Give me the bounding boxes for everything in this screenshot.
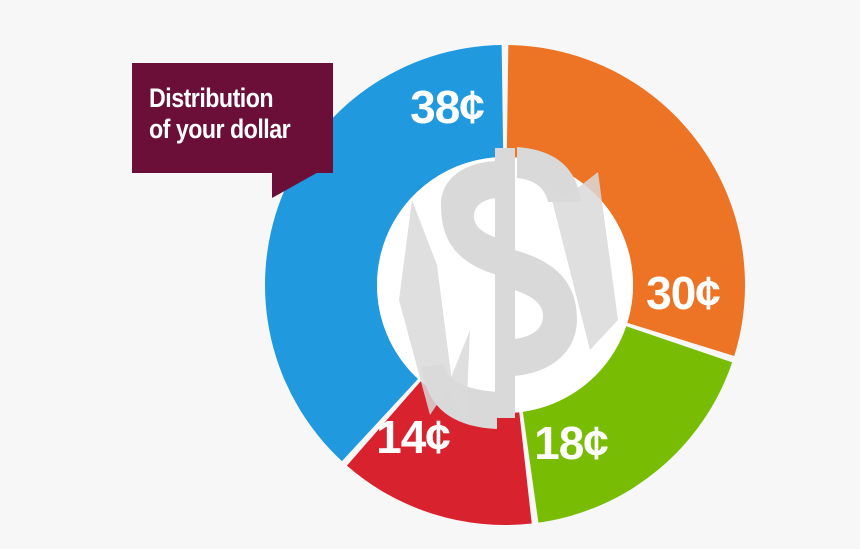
donut-slice-label-3: 18¢ xyxy=(534,417,608,469)
callout-box: Distribution of your dollar xyxy=(132,63,333,173)
callout-title: Distribution of your dollar xyxy=(149,83,307,145)
donut-slice-label-1: 38¢ xyxy=(410,81,484,133)
donut-slice-label-2: 30¢ xyxy=(646,267,720,319)
donut-chart: 38¢30¢18¢14¢ xyxy=(0,0,860,549)
donut-slice-label-4: 14¢ xyxy=(376,411,450,463)
donut-chart-infographic: 38¢30¢18¢14¢ Distribution of your dollar xyxy=(0,0,860,549)
callout-tail-icon xyxy=(272,170,322,198)
